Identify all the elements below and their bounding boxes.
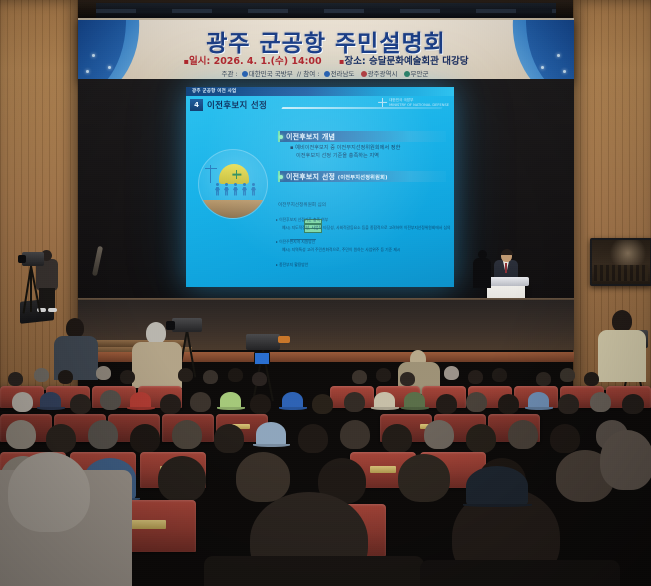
slide-block2-heading: 이전후보지 선정	[286, 173, 335, 181]
audience-head	[344, 392, 365, 412]
slide-block1-heading-bar: 이전후보지 개념	[278, 131, 446, 142]
audience-cap	[256, 422, 286, 446]
banner-datetime-place: ▪일시: 2026. 4. 1.(수) 14:00 ▪장소: 승달문화예술회관 …	[78, 53, 574, 67]
audience-cap	[130, 392, 151, 409]
audience-cap	[282, 392, 303, 409]
slide-illustration	[198, 149, 268, 219]
banner-participants-label: 참여	[303, 70, 315, 78]
slide-divider	[290, 239, 316, 240]
audience-head	[466, 424, 496, 453]
standing-person-body	[132, 342, 182, 388]
banner-participant-2: 광주광역시	[368, 70, 398, 78]
audience-head	[130, 424, 160, 453]
audience-head	[466, 392, 487, 412]
audience-cap	[40, 392, 61, 409]
audience-head	[160, 394, 181, 414]
slide-item-3-label: ▸ 종전부지 활용방안	[276, 262, 308, 267]
banner-participant-1: 전라남도	[331, 70, 355, 78]
audience-head	[508, 420, 538, 449]
audience-head	[70, 394, 91, 414]
slide-logo-text-2: MINISTRY OF NATIONAL DEFENSE	[389, 103, 449, 107]
banner-separator: //	[297, 70, 301, 78]
camera-viewfinder-screen	[254, 352, 270, 365]
slide-section-number: 4	[190, 99, 203, 111]
audience-head	[498, 394, 519, 414]
gwangju-logo-icon	[361, 71, 367, 77]
slide-project-tag-bar: 광주 군공항 이전 사업	[186, 87, 454, 96]
document-stack-icon	[304, 219, 320, 232]
defense-ministry-logo-icon	[242, 71, 248, 77]
audience-head	[100, 390, 121, 410]
broadcast-camera-aisle-1	[172, 318, 202, 332]
muan-logo-icon	[404, 71, 410, 77]
audience-head	[312, 394, 333, 414]
slide-section-title: 이전후보지 선정	[207, 99, 267, 111]
slide-header-rule	[281, 107, 442, 109]
audience-cap	[528, 392, 549, 409]
audience-head	[158, 456, 206, 502]
audience-head	[172, 420, 202, 449]
banner-date-value: 2026. 4. 1.(수) 14:00	[214, 56, 322, 67]
projection-screen: 광주 군공항 이전 사업 4 이전후보지 선정 대한민국 국방부 MINISTR…	[186, 87, 454, 287]
audience-head	[214, 424, 244, 453]
banner-place-label: 장소	[344, 56, 361, 67]
audience-head	[12, 392, 33, 412]
banner-place-value: 승달문화예술회관 대강당	[369, 56, 468, 67]
audience-head	[190, 392, 211, 412]
slide-block2-heading-sub: (이전부지선정위원회)	[338, 175, 388, 181]
audience-head	[550, 424, 580, 453]
slide-item-2-label: ▸ 이전주변지역 지원방안	[276, 239, 315, 244]
camera-lens-hood-icon	[278, 336, 290, 343]
seat-number-plate	[370, 466, 396, 473]
slide-block1-heading: 이전후보지 개념	[286, 132, 335, 142]
standing-person-body	[598, 330, 646, 382]
slide-header: 4 이전후보지 선정	[190, 98, 444, 113]
banner-participant-3: 무안군	[411, 70, 429, 78]
seat-number-plate	[128, 520, 166, 529]
audience-head	[236, 452, 290, 502]
audience-head	[622, 394, 644, 414]
audience-head	[46, 424, 76, 453]
slide-logo-text-1: 대한민국 국방부	[389, 98, 413, 102]
audience-head	[600, 430, 651, 490]
foreground-person-2	[204, 556, 424, 586]
slide-item-1-detail: 예시) 지도적정성, 사업적 타당성, 사회적갈등요소 등을 종합적으로 고려하…	[282, 225, 450, 230]
slide-project-tag: 광주 군공항 이전 사업	[192, 88, 236, 94]
standing-person-head	[66, 318, 84, 338]
broadcast-camera-aisle-2	[246, 334, 280, 350]
standing-person-head	[612, 310, 632, 332]
audience-head	[382, 424, 412, 453]
ceiling-light-strip	[96, 3, 556, 19]
banner-date-label: 일시	[189, 56, 206, 67]
slide-block1-bullet: ▪ 예비이전후보지 중 이전부지선정위원회에서 정한	[290, 145, 400, 153]
slide-item-2-detail: 예시) 지역특성 고려 주민친화적으로, 주민이 원하는 사업위주 등 기준 제…	[282, 247, 400, 252]
auditorium-scene: 광주 군공항 주민설명회 ▪일시: 2026. 4. 1.(수) 14:00 ▪…	[0, 0, 651, 586]
standing-person-head	[146, 322, 166, 344]
audience-head	[88, 420, 118, 449]
audience-head	[6, 420, 36, 449]
audience-cap	[220, 392, 241, 409]
audience-cap	[374, 392, 395, 409]
banner-sponsor-line: 주관 : 대한민국 국방부 // 참여 : 전라남도 광주광역시 무안군	[78, 68, 574, 78]
banner-host-value: 대한민국 국방부	[249, 70, 293, 78]
audience-head	[558, 394, 579, 414]
confidence-monitor	[590, 238, 651, 286]
foreground-person-3	[420, 560, 620, 586]
slide-ministry-logo: 대한민국 국방부 MINISTRY OF NATIONAL DEFENSE	[378, 98, 449, 107]
audience-head	[424, 420, 454, 449]
slide-block2-heading-bar: 이전후보지 선정 (이전부지선정위원회)	[278, 171, 446, 182]
foreground-head-1	[8, 452, 90, 532]
banner-host-label: 주관	[221, 70, 233, 78]
foreground-cap	[466, 466, 528, 506]
audience-head	[298, 424, 328, 453]
defense-emblem-icon	[378, 98, 387, 107]
jeonnam-logo-icon	[324, 71, 330, 77]
audience-cap	[404, 392, 425, 409]
audience-head	[436, 394, 457, 414]
slide-item-1-label: ▸ 이전후보지 선정기준 충족 여부	[276, 217, 328, 222]
audience-head	[398, 454, 450, 502]
audience-head	[250, 394, 271, 414]
slide-doc-caption: 이전부지선정위원회 심의	[278, 203, 326, 210]
slide-block1-bullet-cont: 이전후보지 선정 기준을 충족하는 지역	[296, 153, 379, 161]
stage-attendant-body	[473, 258, 491, 288]
tripod-leg	[30, 266, 32, 312]
event-banner: 광주 군공항 주민설명회 ▪일시: 2026. 4. 1.(수) 14:00 ▪…	[78, 18, 574, 81]
audience-head	[590, 392, 611, 412]
audience-head	[340, 420, 370, 449]
